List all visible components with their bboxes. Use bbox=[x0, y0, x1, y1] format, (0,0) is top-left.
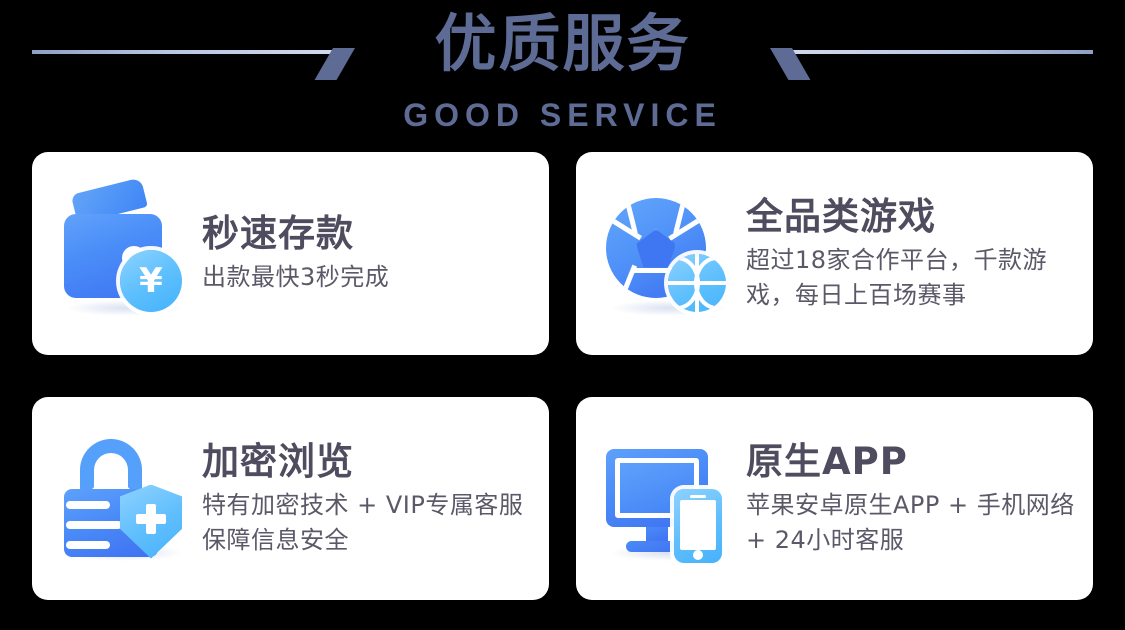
card-title: 全品类游戏 bbox=[746, 195, 1083, 239]
soccer-basketball-icon bbox=[602, 188, 734, 320]
monitor-phone-icon bbox=[602, 433, 734, 565]
card-title: 加密浏览 bbox=[202, 440, 539, 484]
card-description: 特有加密技术 + VIP专属客服保障信息安全 bbox=[202, 488, 539, 558]
cross-icon bbox=[136, 504, 166, 534]
banner-header: 优质服务 GOOD SERVICE bbox=[0, 0, 1125, 148]
service-card-deposit[interactable]: ¥ 秒速存款 出款最快3秒完成 bbox=[32, 152, 549, 355]
lock-slot bbox=[66, 501, 110, 509]
card-title: 秒速存款 bbox=[202, 212, 389, 256]
card-description: 出款最快3秒完成 bbox=[202, 260, 389, 295]
soccer-seam bbox=[606, 212, 642, 240]
card-description: 苹果安卓原生APP + 手机网络 + 24小时客服 bbox=[746, 488, 1083, 558]
good-service-banner: 优质服务 GOOD SERVICE ¥ 秒速存款 出款最快3秒完成 bbox=[0, 0, 1125, 630]
phone-icon bbox=[674, 489, 722, 563]
page-title: 优质服务 bbox=[0, 8, 1125, 80]
service-card-grid: ¥ 秒速存款 出款最快3秒完成 bbox=[32, 152, 1093, 600]
phone-speaker bbox=[690, 495, 706, 498]
service-card-games[interactable]: 全品类游戏 超过18家合作平台，千款游戏，每日上百场赛事 bbox=[576, 152, 1093, 355]
phone-screen bbox=[680, 500, 716, 550]
service-card-encryption[interactable]: 加密浏览 特有加密技术 + VIP专属客服保障信息安全 bbox=[32, 397, 549, 600]
card-text-block: 秒速存款 出款最快3秒完成 bbox=[202, 212, 389, 295]
card-text-block: 原生APP 苹果安卓原生APP + 手机网络 + 24小时客服 bbox=[746, 440, 1083, 558]
page-subtitle: GOOD SERVICE bbox=[0, 96, 1125, 134]
card-text-block: 加密浏览 特有加密技术 + VIP专属客服保障信息安全 bbox=[202, 440, 539, 558]
yen-symbol: ¥ bbox=[139, 264, 163, 298]
card-description: 超过18家合作平台，千款游戏，每日上百场赛事 bbox=[746, 243, 1083, 313]
lock-shield-icon bbox=[58, 433, 190, 565]
service-card-native-app[interactable]: 原生APP 苹果安卓原生APP + 手机网络 + 24小时客服 bbox=[576, 397, 1093, 600]
card-text-block: 全品类游戏 超过18家合作平台，千款游戏，每日上百场赛事 bbox=[746, 195, 1083, 313]
lock-slot bbox=[66, 521, 122, 529]
card-title: 原生APP bbox=[746, 440, 1083, 484]
lock-slot bbox=[66, 541, 110, 549]
basketball-icon bbox=[668, 254, 726, 312]
yen-coin-icon: ¥ bbox=[120, 250, 182, 312]
wallet-yen-icon: ¥ bbox=[58, 188, 190, 320]
phone-home-button bbox=[693, 550, 703, 560]
